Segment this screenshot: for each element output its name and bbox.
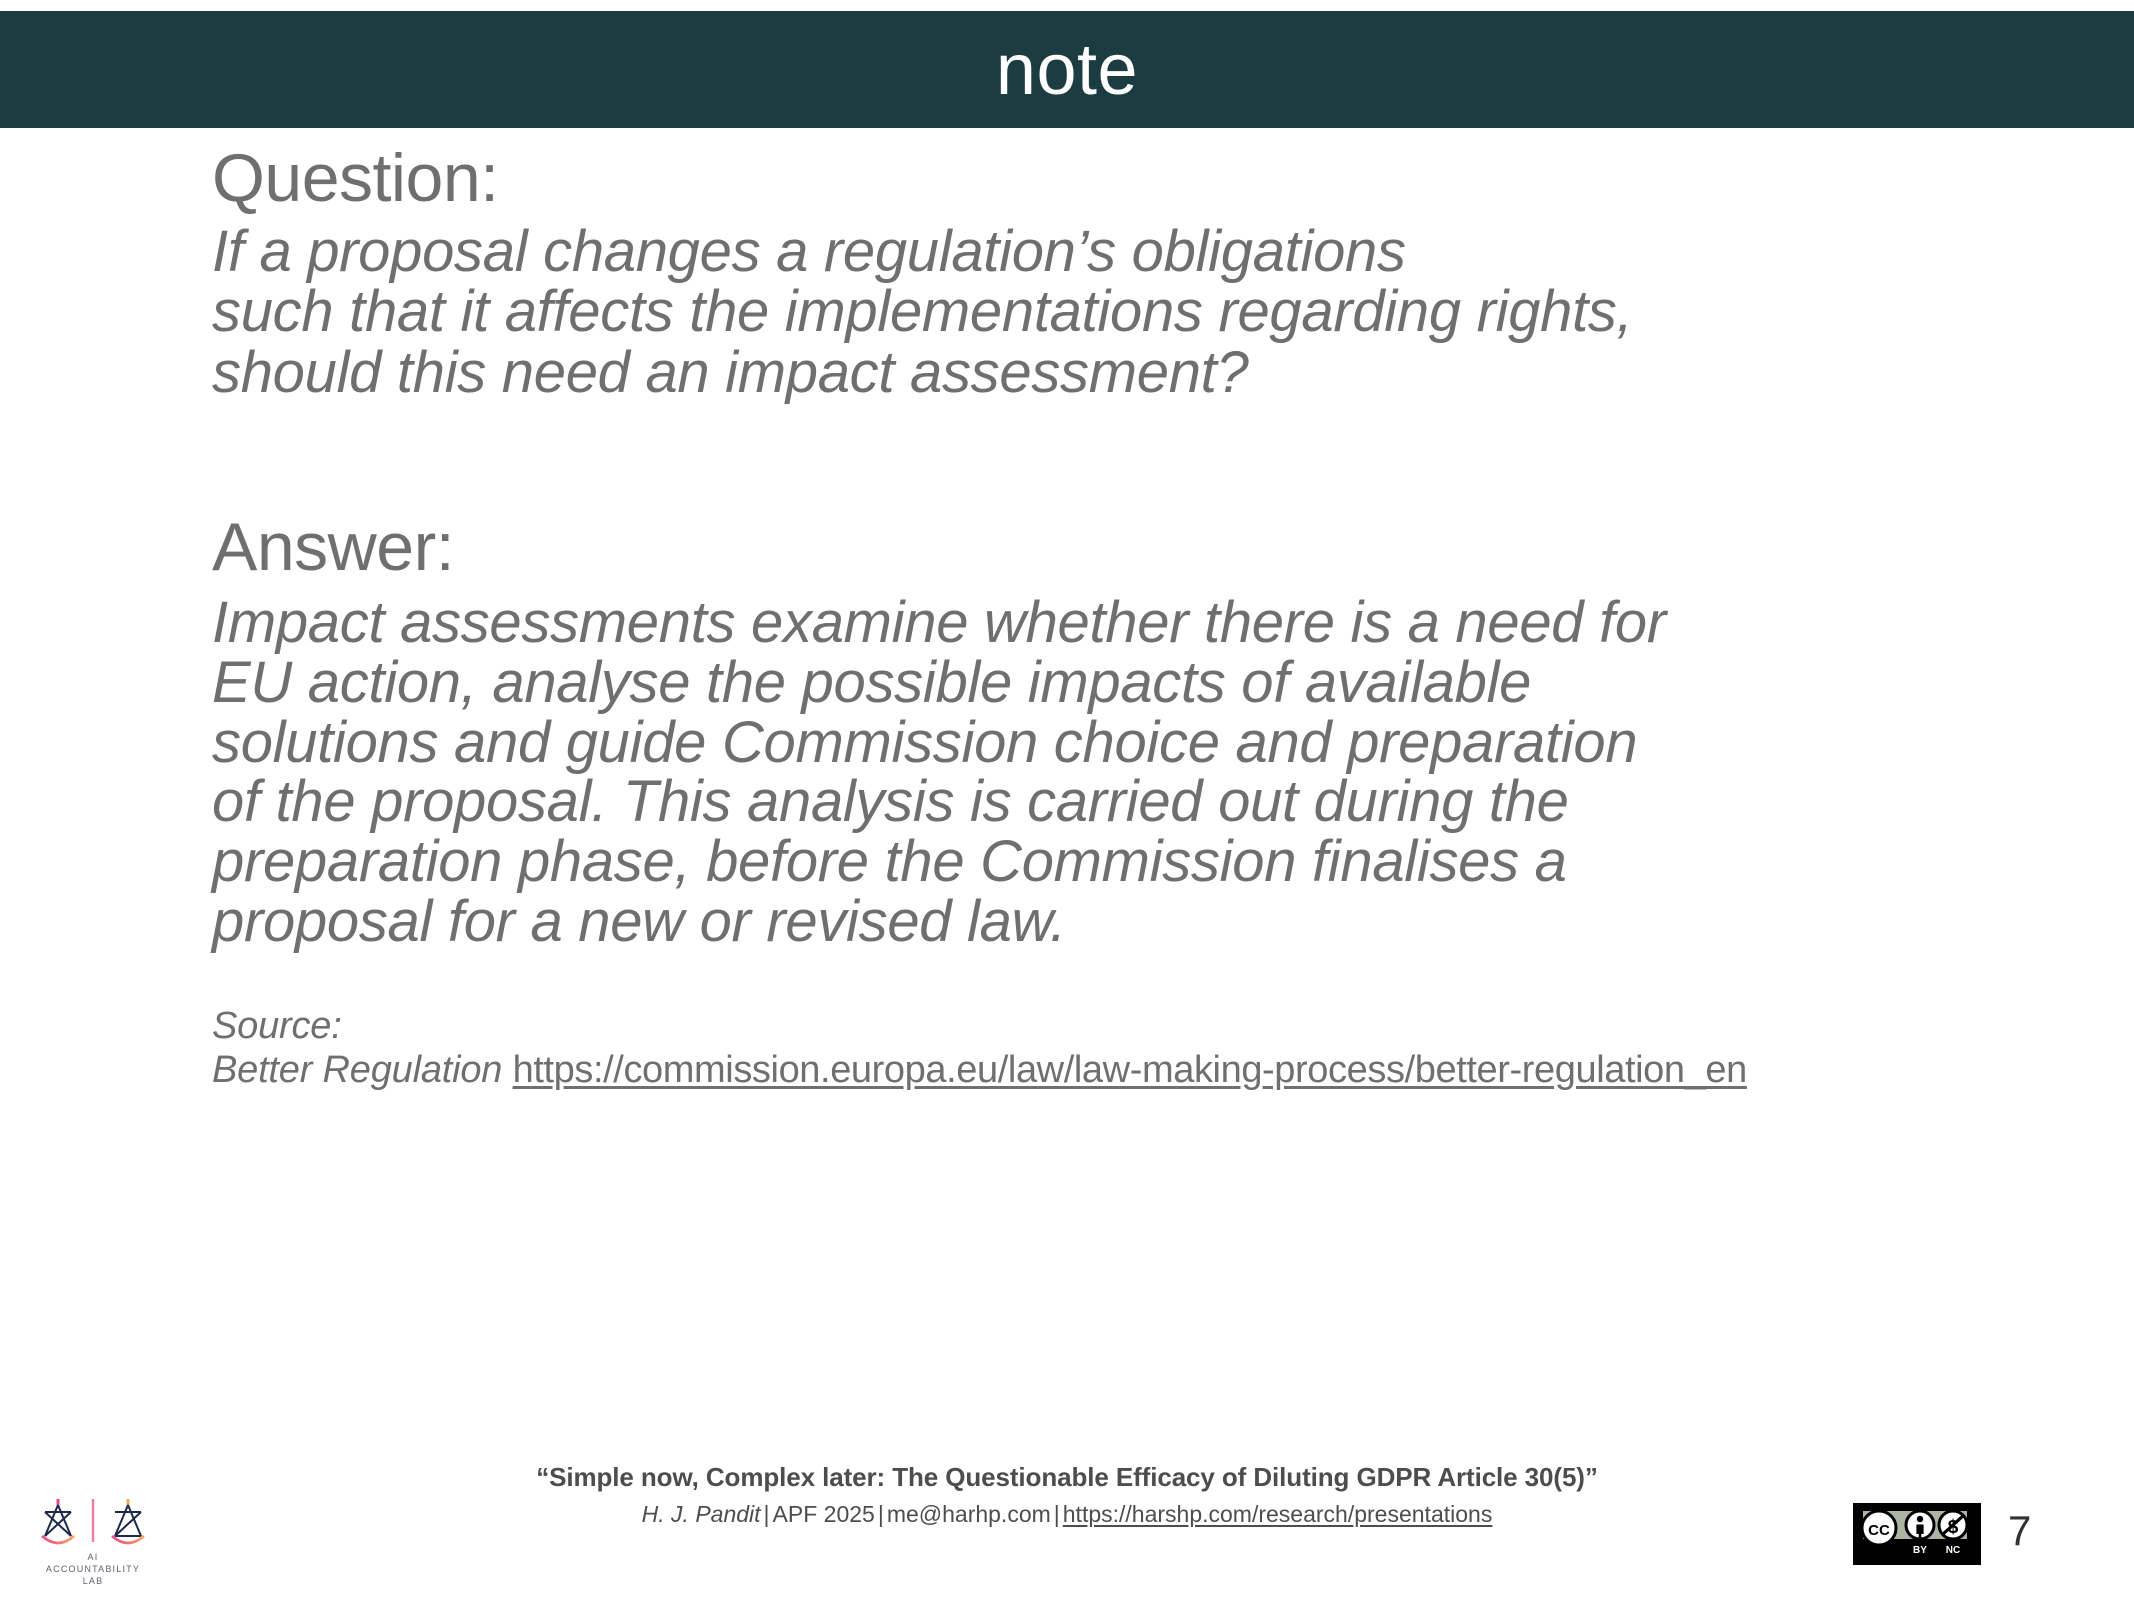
footer-separator: | [875,1501,887,1527]
source-label: Source: [212,1004,2012,1049]
cc-label: CC [1868,1522,1890,1539]
question-body: If a proposal changes a regulation’s obl… [212,222,2012,403]
footer-email: me@harhp.com [887,1501,1051,1527]
footer-separator: | [1051,1501,1063,1527]
answer-line: preparation phase, before the Commission… [212,832,2012,892]
footer-citation: “Simple now, Complex later: The Question… [0,1461,2134,1528]
answer-line: proposal for a new or revised law. [212,892,2012,952]
answer-body: Impact assessments examine whether there… [212,593,2012,951]
answer-line: of the proposal. This analysis is carrie… [212,772,2012,832]
question-line: such that it affects the implementations… [212,282,2012,342]
nc-label: NC [1946,1545,1960,1556]
footer-venue: APF 2025 [773,1501,875,1527]
source-url-link[interactable]: https://commission.europa.eu/law/law-mak… [513,1049,1747,1091]
question-line: If a proposal changes a regulation’s obl… [212,222,2012,282]
slide-header-band: note [0,11,2134,128]
answer-section: Answer: Impact assessments examine wheth… [212,511,2012,951]
answer-line: Impact assessments examine whether there… [212,593,2012,653]
footer-presentations-link[interactable]: https://harshp.com/research/presentation… [1063,1501,1493,1527]
footer-paper-title: “Simple now, Complex later: The Question… [0,1461,2134,1495]
answer-line: solutions and guide Commission choice an… [212,713,2012,773]
footer-author: H. J. Pandit [642,1501,761,1527]
footer-separator: | [761,1501,773,1527]
answer-line: EU action, analyse the possible impacts … [212,653,2012,713]
by-label: BY [1913,1545,1927,1556]
question-section: Question: If a proposal changes a regula… [212,142,2012,403]
source-citation: Better Regulation https://commission.eur… [212,1048,2012,1093]
question-line: should this need an impact assessment? [212,343,2012,403]
footer-metadata: H. J. Pandit|APF 2025|me@harhp.com|https… [0,1501,2134,1528]
slide-footer: “Simple now, Complex later: The Question… [0,1460,2134,1600]
page-number: 7 [2008,1510,2031,1552]
answer-heading: Answer: [212,511,2012,583]
page-title: note [996,34,1138,106]
source-section: Source: Better Regulation https://commis… [212,1004,2012,1094]
slide-content: Question: If a proposal changes a regula… [212,140,2012,1093]
cc-by-nc-badge[interactable]: CC BY $ NC [1853,1503,1981,1565]
question-heading: Question: [212,142,2012,214]
source-name: Better Regulation [212,1049,513,1091]
